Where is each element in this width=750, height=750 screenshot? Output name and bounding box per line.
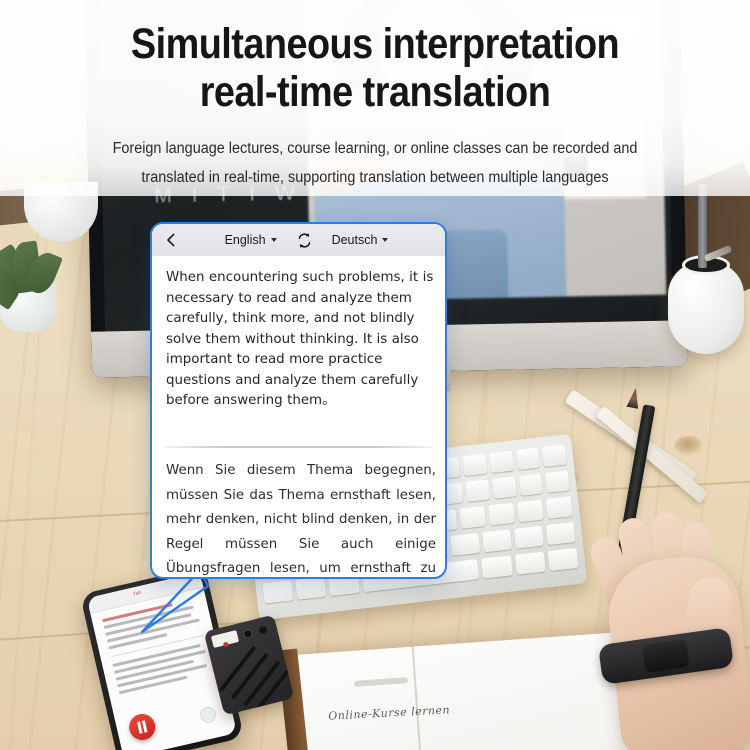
translation-card-header: English Deutsch	[152, 224, 445, 256]
page-subtitle-line1: Foreign language lectures, course learni…	[26, 134, 724, 163]
source-language-label: English	[225, 233, 266, 247]
page-title-line1: Simultaneous interpretation	[45, 20, 705, 68]
recorder-vent	[219, 646, 257, 693]
wood-knot	[674, 436, 704, 456]
page-title: Simultaneous interpretation real-time tr…	[45, 20, 705, 116]
source-text[interactable]: When encountering such problems, it is n…	[166, 268, 434, 412]
translation-divider	[164, 446, 433, 448]
callout-tail	[136, 570, 226, 636]
swap-languages-icon[interactable]	[296, 232, 313, 249]
recorder-sensor	[258, 626, 267, 635]
chevron-left-icon[interactable]	[163, 232, 179, 248]
notebook-crease	[412, 647, 423, 750]
recorder-vent	[231, 653, 269, 700]
record-button[interactable]	[127, 711, 158, 742]
caret-down-icon	[271, 238, 277, 242]
recorder-lens	[242, 628, 253, 639]
notebook-handwriting: Online-Kurse lernen	[328, 703, 450, 722]
page-subtitle-line2: translated in real-time, supporting tran…	[26, 163, 724, 192]
language-selector-group: English Deutsch	[179, 232, 434, 249]
notebook-faint-mark	[354, 677, 408, 687]
caret-down-icon	[382, 238, 388, 242]
page-subtitle: Foreign language lectures, course learni…	[26, 134, 724, 192]
translation-card-body: When encountering such problems, it is n…	[152, 256, 445, 577]
hand	[579, 490, 750, 750]
target-language-label: Deutsch	[332, 233, 378, 247]
watch-face	[642, 639, 689, 673]
target-language-selector[interactable]: Deutsch	[332, 233, 389, 247]
page-title-line2: real-time translation	[45, 68, 705, 116]
pause-button[interactable]	[199, 705, 218, 724]
translation-card: English Deutsch When e	[150, 222, 447, 579]
promo-banner-page: M I T I W I T I E	[0, 0, 750, 750]
translated-text[interactable]: Wenn Sie diesem Thema begegnen, müssen S…	[166, 459, 436, 579]
recorder-indicator	[223, 641, 229, 647]
source-language-selector[interactable]: English	[225, 233, 277, 247]
pen-holder	[668, 262, 744, 354]
